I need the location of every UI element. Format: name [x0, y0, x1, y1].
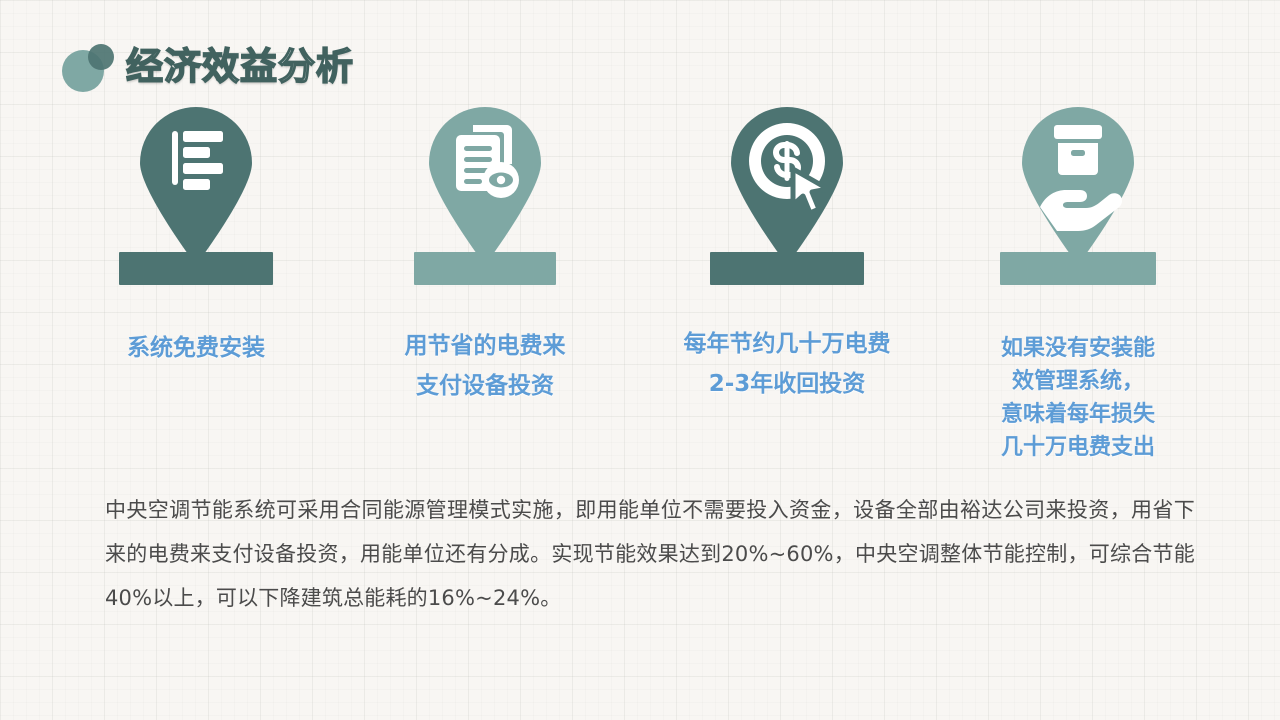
pin-base-bar-3	[710, 252, 864, 285]
benefit-caption-3: 每年节约几十万电费 2-3年收回投资	[647, 324, 927, 404]
pin-base-bar-4	[1000, 252, 1156, 285]
pin-marker-2[interactable]	[425, 105, 545, 265]
pin-marker-1[interactable]	[136, 105, 256, 265]
pin-marker-4[interactable]	[1018, 105, 1138, 265]
bar-chart-list-icon	[136, 105, 256, 265]
benefit-caption-4: 如果没有安装能 效管理系统， 意味着每年损失 几十万电费支出	[938, 332, 1218, 464]
benefit-caption-1: 系统免费安装	[56, 328, 336, 368]
document-review-eye-icon	[425, 105, 545, 265]
logo-mark	[62, 44, 110, 92]
page-title: 经济效益分析	[126, 44, 354, 90]
dollar-coin-cursor-icon	[727, 105, 847, 265]
logo-circle-small	[88, 44, 114, 70]
pin-marker-3[interactable]	[727, 105, 847, 265]
hand-holding-box-icon	[1018, 105, 1138, 265]
slide-canvas: 经济效益分析 系统免费安装	[0, 0, 1280, 720]
slide-header: 经济效益分析	[0, 0, 1280, 110]
pin-base-bar-2	[414, 252, 556, 285]
pin-base-bar-1	[119, 252, 273, 285]
benefit-caption-2: 用节省的电费来 支付设备投资	[345, 326, 625, 406]
body-paragraph: 中央空调节能系统可采用合同能源管理模式实施，即用能单位不需要投入资金，设备全部由…	[105, 488, 1195, 620]
